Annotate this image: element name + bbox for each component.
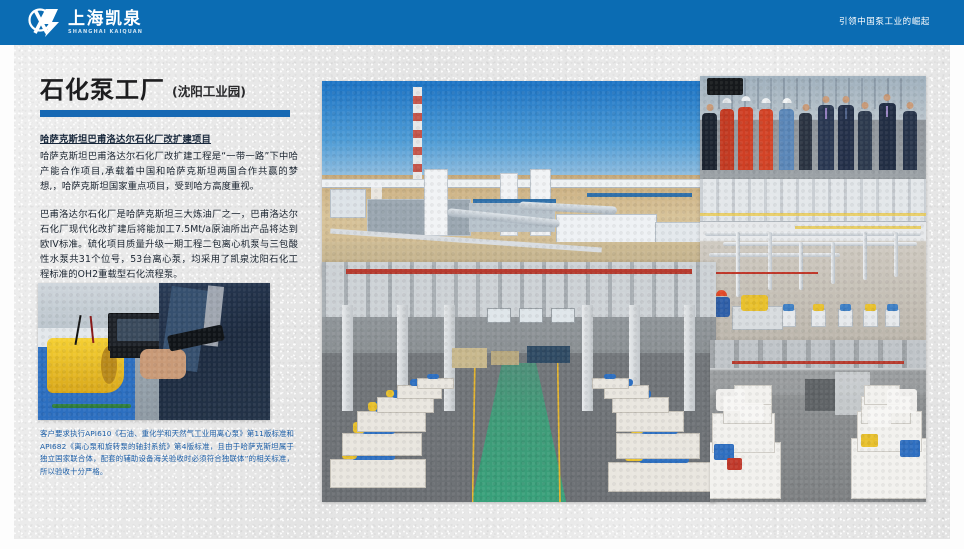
title-underline-rule (40, 110, 290, 117)
project-paragraph-1: 哈萨克斯坦巴甫洛达尔石化厂改扩建工程是“一带一路”下中哈产能合作项目,承载着中国… (40, 149, 298, 194)
pipework-hall-photo (700, 179, 926, 340)
slide-root: 上海凯泉 SHANGHAI KAIQUAN 引领中国泵工业的崛起 石化泵工厂 (… (0, 0, 964, 549)
project-lead-heading: 哈萨克斯坦巴甫洛达尔石化厂改扩建项目 (40, 131, 298, 145)
page-edge-right (950, 0, 964, 549)
project-caption: 客户要求执行API610《石油、重化学和天然气工业用离心泵》第11版标准和API… (40, 428, 294, 479)
page-edge-bottom (0, 539, 964, 549)
pump-assembly-hall-photo (322, 262, 716, 502)
brand-logo-cn: 上海凯泉 (68, 11, 143, 28)
page-title: 石化泵工厂 (沈阳工业园) (40, 78, 298, 102)
header-tagline: 引领中国泵工业的崛起 (839, 15, 930, 27)
page-header: 上海凯泉 SHANGHAI KAIQUAN 引领中国泵工业的崛起 (0, 0, 964, 45)
kaiquan-logo-icon (28, 7, 62, 38)
page-title-sub: (沈阳工业园) (172, 81, 246, 102)
brand-logo-en: SHANGHAI KAIQUAN (68, 30, 143, 35)
page-edge-left (0, 0, 14, 549)
finished-pumps-warehouse-photo (710, 340, 926, 502)
technician-vibration-test-photo (38, 283, 270, 420)
project-paragraph-2: 巴甫洛达尔石化厂是哈萨克斯坦三大炼油厂之一，巴甫洛达尔石化厂现代化改扩建后将能加… (40, 207, 298, 282)
brand-logo[interactable]: 上海凯泉 SHANGHAI KAIQUAN (28, 7, 143, 38)
delegation-inspection-photo (700, 76, 926, 179)
page-title-main: 石化泵工厂 (40, 78, 165, 102)
left-text-column: 石化泵工厂 (沈阳工业园) 哈萨克斯坦巴甫洛达尔石化厂改扩建项目 哈萨克斯坦巴甫… (40, 78, 298, 282)
refinery-plant-photo: 凯泉泵业集团有限公司 (322, 81, 700, 277)
